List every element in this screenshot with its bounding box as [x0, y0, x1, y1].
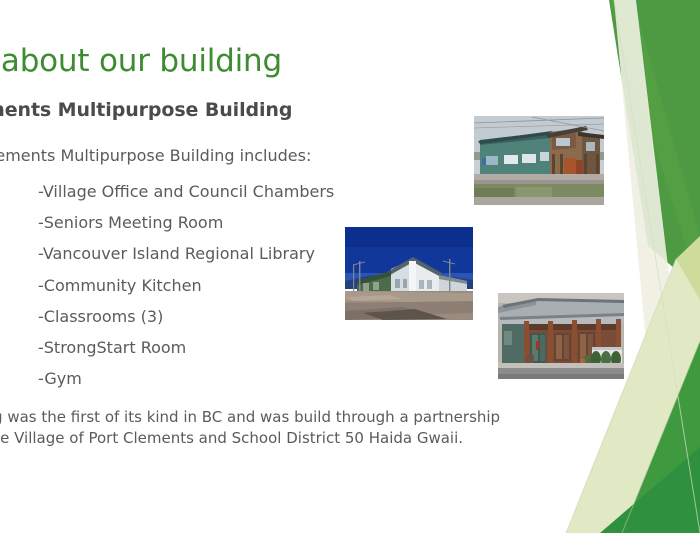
list-item: -Gym: [38, 371, 458, 387]
deco-shape-bottom-green-fill: [600, 447, 700, 533]
list-item: -Village Office and Council Chambers: [38, 184, 458, 200]
closing-paragraph: uilding was the first of its kind in BC …: [0, 407, 632, 450]
photo-village-office-exterior: [496, 291, 626, 381]
presentation-slide: tle about our building Clements Multipur…: [0, 0, 700, 533]
deco-shape-pale-band: [614, 0, 700, 533]
deco-shape-top-dark-green: [609, 0, 700, 290]
closing-line-2: een the Village of Port Clements and Sch…: [0, 428, 632, 449]
photo-school-building-exterior: [343, 225, 475, 322]
list-item: -StrongStart Room: [38, 340, 458, 356]
deco-shape-light-green-wedge: [566, 236, 700, 533]
deco-shape-bottom-dark-green: [622, 341, 700, 533]
deco-shape-top-mid-green: [609, 0, 700, 290]
deco-crease-line-1: [614, 0, 700, 533]
closing-line-1: uilding was the first of its kind in BC …: [0, 407, 632, 428]
deco-crease-line-3: [622, 341, 700, 533]
slide-title: tle about our building: [0, 44, 592, 79]
photo-multipurpose-building-exterior: [472, 114, 606, 207]
